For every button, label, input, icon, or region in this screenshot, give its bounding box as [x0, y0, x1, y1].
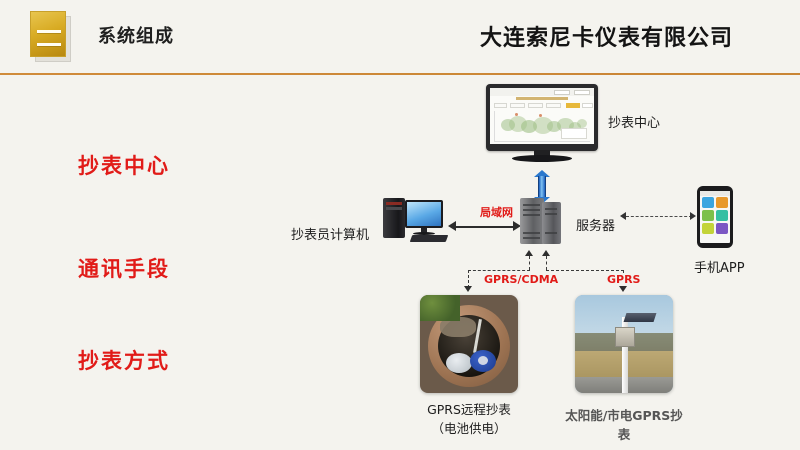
gprs-cdma-riser — [529, 256, 530, 270]
solar-pole-photo — [575, 295, 673, 393]
gprs-riser — [546, 256, 547, 270]
gprs-drop-arrow — [619, 286, 627, 292]
monitor-label: 抄表中心 — [608, 112, 660, 131]
reader-pc-label: 抄表员计算机 — [291, 224, 369, 243]
gprs-cdma-arrowhead — [525, 250, 533, 256]
lan-label: 局域网 — [480, 204, 513, 220]
phone-app-label: 手机APP — [694, 257, 745, 276]
server-rack-icon — [518, 196, 564, 246]
well-photo-caption: GPRS远程抄表 （电池供电） — [398, 400, 540, 438]
manhole-meter-photo — [420, 295, 518, 393]
desktop-monitor-icon — [486, 84, 598, 164]
header-divider — [0, 73, 800, 75]
side-label-communication: 通讯手段 — [78, 253, 170, 283]
gprs-cdma-drop-arrow — [464, 286, 472, 292]
server-label: 服务器 — [576, 215, 615, 234]
well-caption-line1: GPRS远程抄表 — [398, 400, 540, 419]
slide-list-icon — [30, 11, 66, 57]
lan-connector-line — [455, 226, 517, 228]
side-label-reading-center: 抄表中心 — [78, 150, 170, 180]
slide-root: 系统组成 大连索尼卡仪表有限公司 抄表中心 通讯手段 抄表方式 — [0, 0, 800, 450]
well-caption-line2: （电池供电） — [398, 419, 540, 438]
server-phone-arrow-left — [620, 212, 626, 220]
gprs-branch — [546, 270, 624, 271]
company-name: 大连索尼卡仪表有限公司 — [480, 20, 733, 52]
server-phone-connector — [626, 216, 692, 217]
slide-header: 系统组成 大连索尼卡仪表有限公司 — [0, 0, 800, 74]
gprs-cdma-branch — [468, 270, 530, 271]
server-phone-arrow-right — [690, 212, 696, 220]
page-title: 系统组成 — [98, 22, 174, 48]
smartphone-icon — [697, 186, 733, 248]
lan-arrow-left — [448, 221, 456, 231]
side-label-reading-method: 抄表方式 — [78, 345, 170, 375]
gprs-arrowhead — [542, 250, 550, 256]
gprs-label: GPRS — [604, 273, 643, 286]
monitor-screen-content — [490, 88, 594, 144]
gprs-cdma-label: GPRS/CDMA — [481, 273, 561, 286]
pole-photo-caption: 太阳能/市电GPRS抄表 — [560, 406, 688, 444]
desktop-computer-icon — [383, 196, 451, 244]
